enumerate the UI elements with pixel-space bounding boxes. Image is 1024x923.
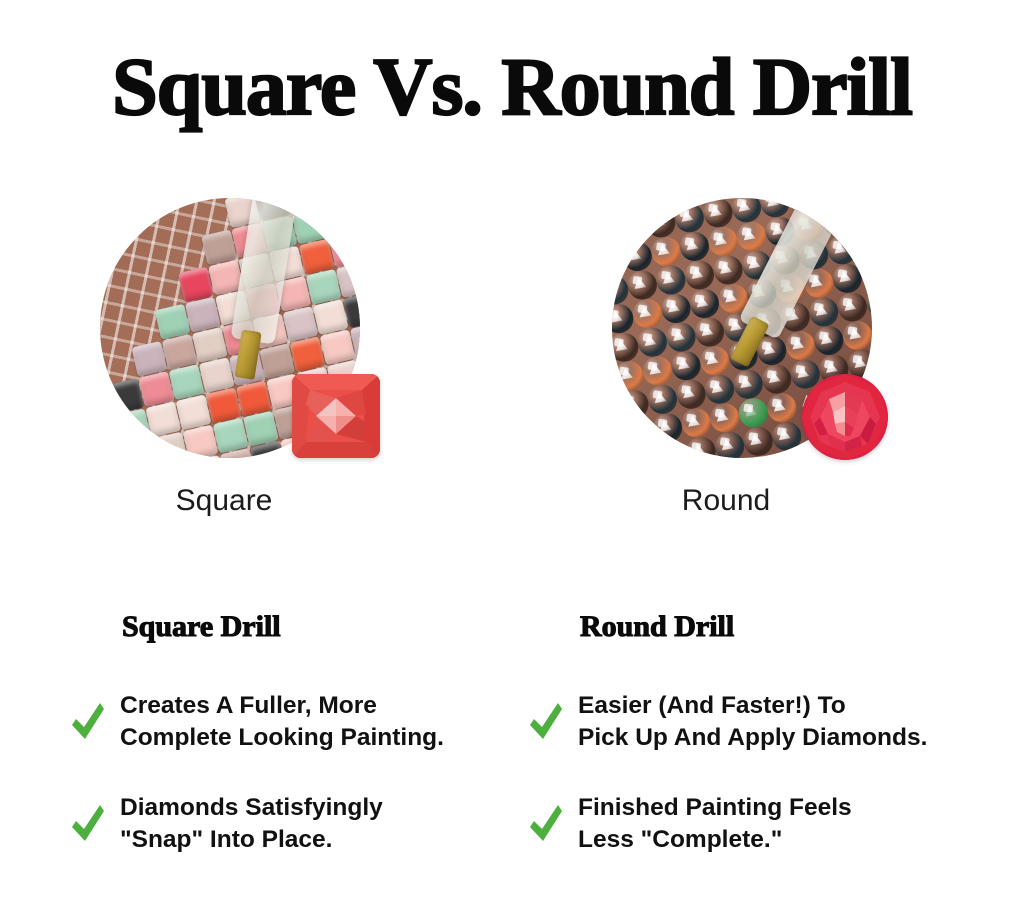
square-caption: Square	[0, 483, 480, 519]
round-drill-bead	[674, 377, 708, 411]
comparison-row: Square	[0, 198, 1024, 528]
round-drill-bead	[622, 416, 656, 450]
round-drill-bead	[706, 225, 740, 259]
round-drill-bead	[841, 319, 872, 353]
square-gem-facets	[292, 374, 380, 458]
round-drill-bead	[679, 406, 713, 440]
comparison-column-square: Square	[0, 198, 512, 528]
square-drill-photo-wrap	[100, 198, 362, 460]
round-drill-bead	[644, 206, 678, 240]
round-drill-bead	[736, 396, 770, 430]
round-drill-bead	[673, 201, 707, 235]
square-drill-bead	[329, 232, 360, 268]
check-icon	[528, 701, 564, 743]
round-drill-bead	[760, 362, 794, 396]
round-drill-bead	[612, 302, 636, 336]
round-drill-bead	[684, 435, 718, 458]
round-drill-bead	[849, 199, 872, 233]
benefits-column-square: Square Drill Creates A Fuller, More Comp…	[122, 600, 592, 880]
round-caption: Round	[470, 483, 982, 519]
round-drill-bead	[621, 240, 655, 274]
round-drill-bead	[713, 430, 747, 458]
round-drill-bead	[836, 290, 870, 324]
round-drill-bead	[730, 198, 764, 225]
benefit-item: Creates A Fuller, More Complete Looking …	[70, 690, 550, 754]
benefit-item: Easier (And Faster!) To Pick Up And Appl…	[528, 690, 1008, 754]
page-title: Square Vs. Round Drill	[0, 44, 1024, 130]
comparison-column-round: Round	[512, 198, 1024, 528]
round-drill-bead	[765, 391, 799, 425]
benefit-item: Finished Painting Feels Less "Complete."	[528, 792, 1008, 856]
benefits-column-round: Round Drill Easier (And Faster!) To Pick…	[580, 600, 1024, 880]
round-drill-bead	[659, 292, 693, 326]
round-drill-bead	[826, 233, 860, 267]
round-drill-bead	[688, 287, 722, 321]
round-drill-bead	[683, 258, 717, 292]
round-drill-bead	[831, 262, 865, 296]
round-drill-bead	[708, 401, 742, 435]
round-drill-bead	[859, 257, 872, 291]
round-drill-bead	[612, 359, 646, 393]
round-drill-bead	[807, 295, 841, 329]
benefit-text: Easier (And Faster!) To Pick Up And Appl…	[578, 690, 927, 754]
round-drill-bead	[651, 411, 685, 445]
round-drill-bead	[649, 235, 683, 269]
round-drill-bead	[731, 367, 765, 401]
round-drill-bead	[641, 354, 675, 388]
round-drill-bead	[711, 253, 745, 287]
round-drill-bead	[854, 228, 872, 262]
round-drill-bead	[669, 349, 703, 383]
round-drill-bead	[616, 211, 650, 245]
round-drill-bead	[735, 220, 769, 254]
benefit-text: Finished Painting Feels Less "Complete."	[578, 792, 852, 856]
round-drill-bead	[770, 420, 804, 454]
round-drill-bead	[617, 388, 651, 422]
round-drill-photo-wrap	[612, 198, 874, 460]
round-gem	[802, 374, 888, 460]
round-drill-bead	[646, 383, 680, 417]
benefit-text: Diamonds Satisfyingly "Snap" Into Place.	[120, 792, 383, 856]
round-drill-bead	[693, 315, 727, 349]
round-drill-bead	[664, 320, 698, 354]
round-drill-bead	[656, 440, 690, 458]
benefit-item: Diamonds Satisfyingly "Snap" Into Place.	[70, 792, 550, 856]
round-drill-bead	[626, 268, 660, 302]
round-drill-bead	[812, 324, 846, 358]
round-drill-bead	[612, 330, 641, 364]
benefit-text: Creates A Fuller, More Complete Looking …	[120, 690, 444, 754]
round-drill-bead	[631, 297, 665, 331]
round-drill-bead	[758, 198, 792, 220]
benefits-section: Square Drill Creates A Fuller, More Comp…	[0, 600, 1024, 880]
square-gem	[292, 374, 380, 458]
check-icon	[528, 803, 564, 845]
round-drill-bead	[703, 372, 737, 406]
round-drill-bead	[741, 425, 775, 458]
check-icon	[70, 803, 106, 845]
round-gem-facets	[802, 374, 888, 460]
round-drill-bead	[636, 325, 670, 359]
round-drill-heading: Round Drill	[580, 610, 734, 644]
round-drill-bead	[701, 198, 735, 230]
round-drill-bead	[654, 263, 688, 297]
square-drill-heading: Square Drill	[122, 610, 281, 644]
round-drill-bead	[627, 445, 661, 458]
check-icon	[70, 701, 106, 743]
round-drill-bead	[678, 230, 712, 264]
round-drill-bead	[698, 344, 732, 378]
round-drill-bead	[784, 329, 818, 363]
